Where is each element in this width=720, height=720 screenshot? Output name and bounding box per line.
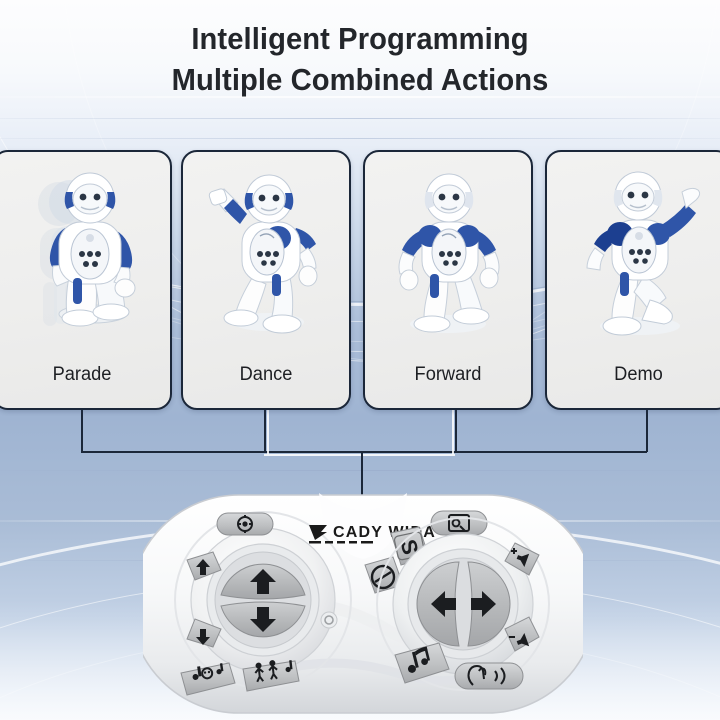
card-label: Demo — [551, 364, 720, 386]
robot-icon — [547, 164, 720, 354]
remote-control[interactable]: CADY WIDA S — [143, 487, 583, 720]
connector-stem-4 — [646, 404, 648, 452]
gesture-sense-button[interactable] — [455, 663, 523, 689]
robot-icon — [183, 164, 349, 354]
robot-icon — [0, 164, 170, 354]
connector-bus — [81, 451, 647, 453]
program-top-right-button[interactable] — [431, 511, 487, 535]
pair-indicator-icon — [321, 612, 337, 628]
card-label: Forward — [368, 364, 527, 386]
product-infographic: Intelligent Programming Multiple Combine… — [0, 0, 720, 720]
connector-stem-1 — [81, 404, 83, 452]
connector-bus-highlight — [264, 454, 455, 456]
page-title: Intelligent Programming Multiple Combine… — [0, 18, 720, 100]
action-card-dance[interactable]: Dance — [181, 150, 351, 410]
action-card-demo[interactable]: Demo — [545, 150, 720, 410]
connector-tree — [0, 404, 720, 484]
action-card-list: Parade — [0, 150, 720, 406]
action-card-parade[interactable]: Parade — [0, 150, 172, 410]
card-label: Dance — [186, 364, 345, 386]
settings-top-left-button[interactable] — [217, 513, 273, 535]
title-line-2: Multiple Combined Actions — [22, 59, 699, 100]
action-card-forward[interactable]: Forward — [363, 150, 533, 410]
connector-stem-2 — [264, 404, 266, 452]
title-line-1: Intelligent Programming — [22, 18, 699, 59]
left-control-dish — [175, 512, 351, 688]
connector-stem-highlight-3 — [452, 408, 454, 454]
connector-stem-3 — [455, 404, 457, 452]
robot-icon — [365, 164, 531, 354]
connector-stem-highlight-2 — [267, 408, 269, 454]
card-label: Parade — [0, 364, 166, 386]
